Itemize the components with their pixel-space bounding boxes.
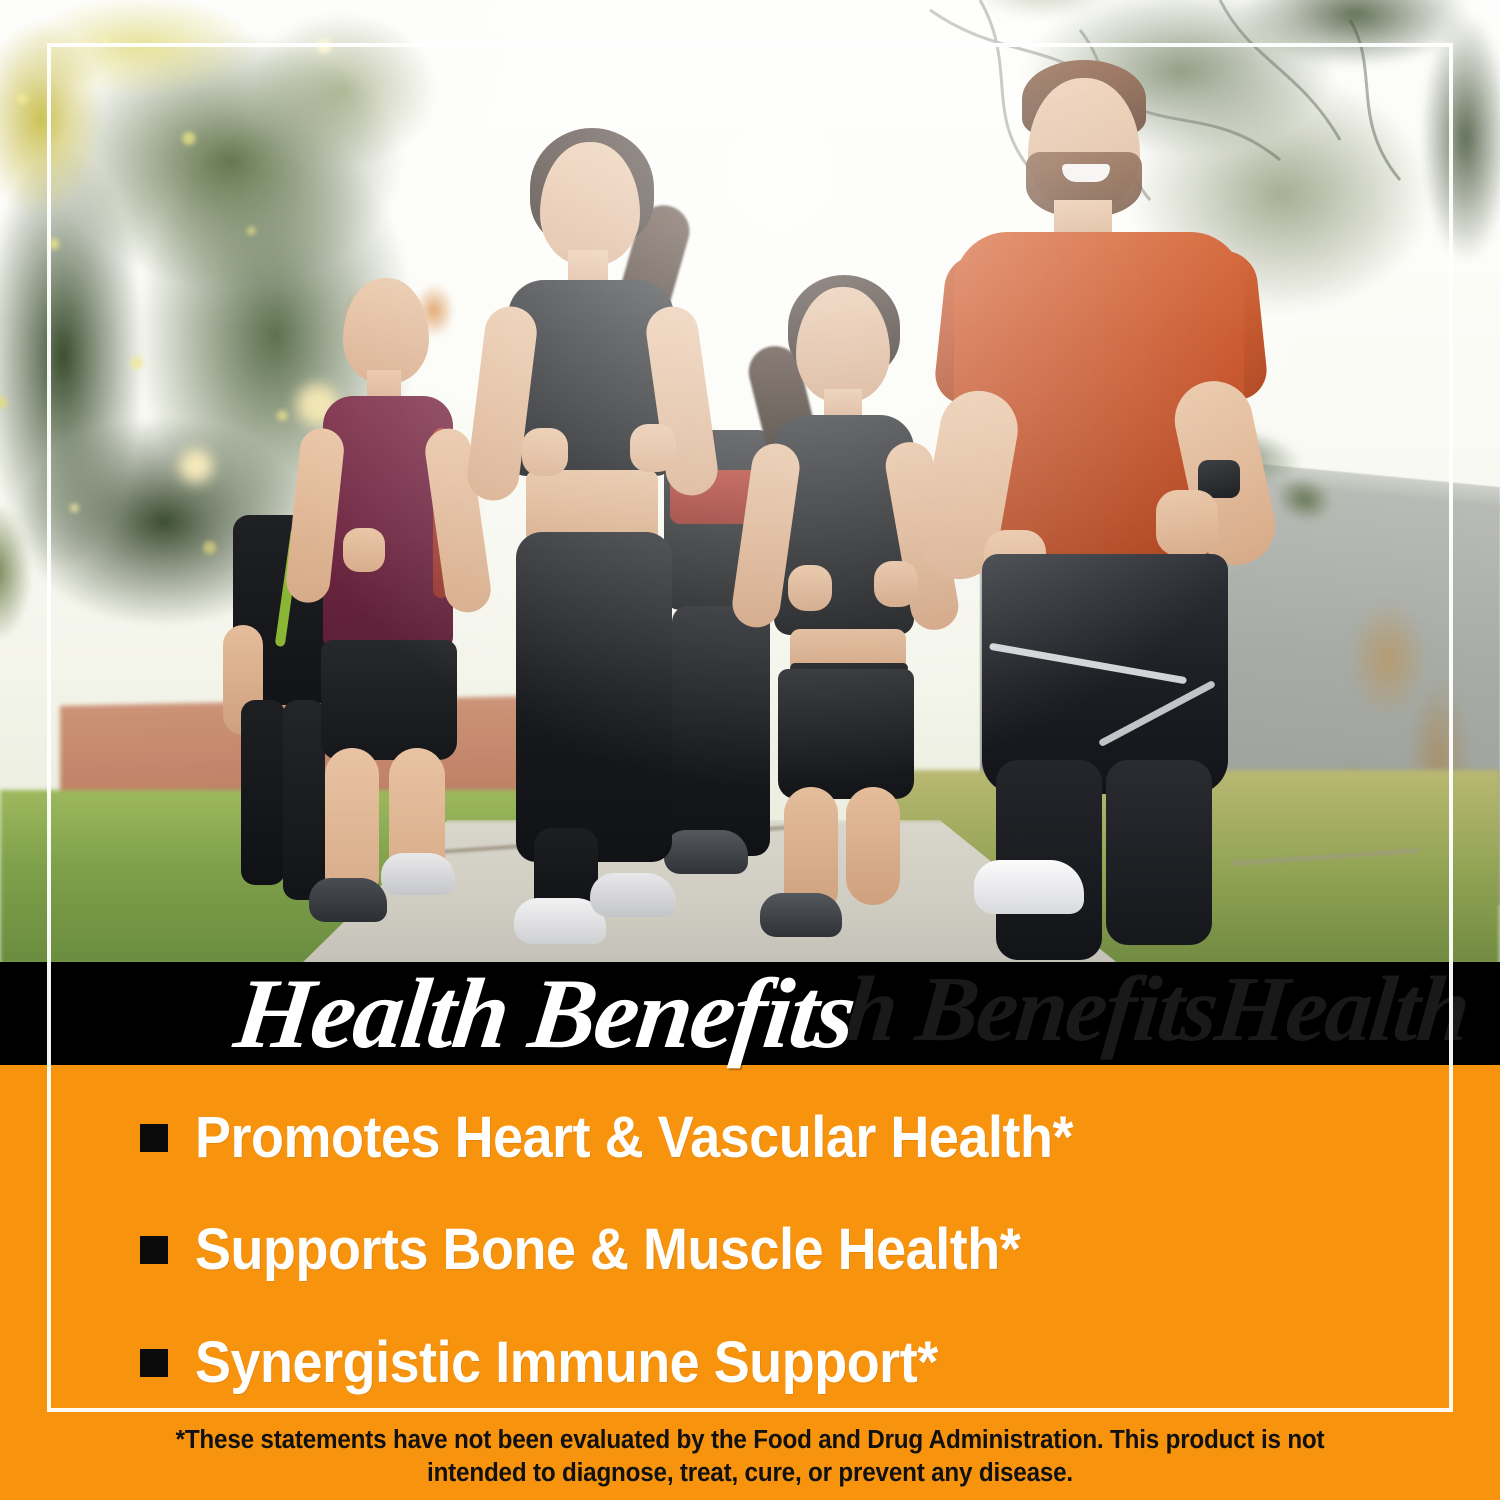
runner-maroon-tank-woman: [285, 278, 500, 938]
benefit-item-heart: Promotes Heart & Vascular Health*: [140, 1108, 1440, 1168]
hero-photo: [0, 0, 1500, 963]
benefit-item-bone-muscle: Supports Bone & Muscle Health*: [140, 1220, 1440, 1280]
benefit-item-immune: Synergistic Immune Support*: [140, 1333, 1440, 1393]
headline-band: h BenefitsHealth: [0, 962, 1500, 1065]
runner-black-tank-woman: [740, 275, 955, 935]
headline-ghost-text: h BenefitsHealth: [841, 962, 1474, 1062]
square-bullet-icon: [140, 1349, 168, 1377]
infographic-canvas: h BenefitsHealth Health Benefits Promote…: [0, 0, 1500, 1500]
fda-disclaimer: *These statements have not been evaluate…: [90, 1424, 1410, 1490]
disclaimer-line-1: *These statements have not been evaluate…: [123, 1424, 1377, 1457]
benefit-label: Supports Bone & Muscle Health*: [195, 1220, 1020, 1280]
runner-orange-shirt-man: [930, 60, 1290, 950]
benefit-label: Synergistic Immune Support*: [195, 1333, 938, 1393]
runner-black-croptop-woman: [470, 128, 720, 943]
square-bullet-icon: [140, 1236, 168, 1264]
benefit-label: Promotes Heart & Vascular Health*: [195, 1108, 1073, 1168]
benefits-list: Promotes Heart & Vascular Health* Suppor…: [140, 1108, 1440, 1445]
disclaimer-line-2: intended to diagnose, treat, cure, or pr…: [123, 1457, 1377, 1490]
square-bullet-icon: [140, 1124, 168, 1152]
